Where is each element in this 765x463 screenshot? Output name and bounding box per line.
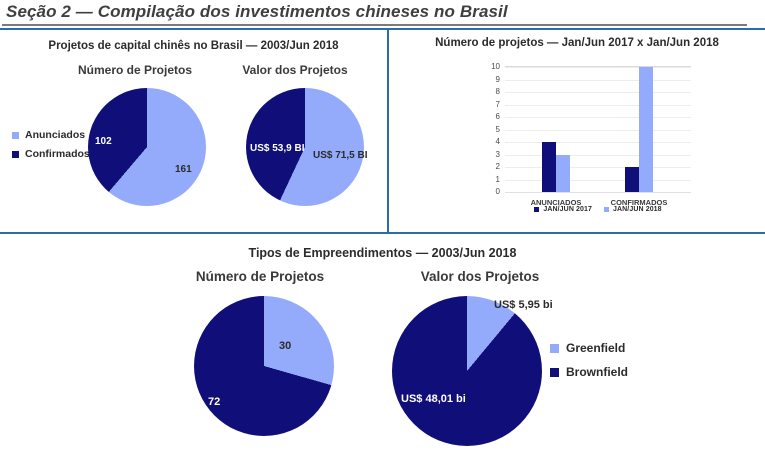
legend-item-jan-jun-2017: JAN/JUN 2017 — [534, 206, 592, 213]
legend-label-confirmados: Confirmados — [25, 148, 90, 160]
ytick-label-3: 3 — [496, 151, 500, 159]
gridline-2: 2 — [505, 167, 691, 168]
chart-subtitle-valor-projetos-1: Valor dos Projetos — [220, 63, 370, 77]
ytick-label-4: 4 — [496, 138, 500, 146]
ytick-label-1: 1 — [496, 176, 500, 184]
gridline-4: 4 — [505, 142, 691, 143]
ytick-label-7: 7 — [496, 101, 500, 109]
ytick-label-5: 5 — [496, 126, 500, 134]
gridline-9: 9 — [505, 80, 691, 81]
pie-slice-label-30: 30 — [279, 340, 291, 352]
legend-greenfield-brownfield: Greenfield Brownfield — [550, 341, 628, 389]
legend-label-jan-jun-2018: JAN/JUN 2018 — [613, 206, 662, 213]
gridline-8: 8 — [505, 92, 691, 93]
legend-swatch-confirmados — [12, 151, 19, 158]
bar-confirmados-2018 — [639, 67, 653, 192]
gridline-5: 5 — [505, 130, 691, 131]
bar-group-anunciados: ANUNCIADOS — [542, 67, 570, 192]
chart-subtitle-numero-projetos-1: Número de Projetos — [60, 63, 210, 77]
ytick-label-8: 8 — [496, 88, 500, 96]
top-right-panel-title: Número de projetos — Jan/Jun 2017 x Jan/… — [389, 37, 765, 49]
pie-slice-label-715: US$ 71,5 BI — [313, 150, 367, 161]
bar-group-confirmados: CONFIRMADOS — [625, 67, 653, 192]
bottom-panel-title: Tipos de Empreendimentos — 2003/Jun 2018 — [0, 246, 765, 260]
legend-item-anunciados: Anunciados — [12, 129, 90, 141]
gridline-3: 3 — [505, 155, 691, 156]
legend-swatch-greenfield — [550, 344, 559, 353]
bar-chart-numero-projetos-2017-2018: 10 9 8 7 6 5 4 3 2 1 0 — [425, 58, 725, 233]
legend-label-anunciados: Anunciados — [25, 129, 85, 141]
panel-vertical-divider — [387, 28, 389, 234]
panel-top-border — [0, 28, 765, 30]
legend-label-brownfield: Brownfield — [566, 365, 628, 379]
legend-swatch-jan-jun-2017 — [534, 207, 539, 212]
bar-chart-plot-area: 10 9 8 7 6 5 4 3 2 1 0 — [505, 66, 691, 192]
pie-chart-numero-projetos-1 — [88, 88, 206, 206]
ytick-label-10: 10 — [491, 63, 500, 71]
ytick-label-6: 6 — [496, 113, 500, 121]
legend-item-jan-jun-2018: JAN/JUN 2018 — [604, 206, 662, 213]
ytick-label-2: 2 — [496, 163, 500, 171]
gridline-0: 0 — [505, 192, 691, 193]
gridline-1: 1 — [505, 180, 691, 181]
bar-anunciados-2018 — [556, 155, 570, 193]
legend-item-brownfield: Brownfield — [550, 365, 628, 379]
pie-chart-numero-projetos-2 — [194, 296, 334, 436]
pie-slice-label-4801: US$ 48,01 bi — [401, 393, 466, 405]
legend-item-greenfield: Greenfield — [550, 341, 628, 355]
gridline-7: 7 — [505, 105, 691, 106]
legend-swatch-anunciados — [12, 132, 19, 139]
page-title: Seção 2 — Compilação dos investimentos c… — [6, 2, 746, 22]
ytick-label-9: 9 — [496, 76, 500, 84]
top-left-panel-title: Projetos de capital chinês no Brasil — 2… — [0, 40, 387, 52]
pie-slice-label-161: 161 — [175, 164, 192, 175]
gridline-6: 6 — [505, 117, 691, 118]
legend-swatch-brownfield — [550, 368, 559, 377]
legend-swatch-jan-jun-2018 — [604, 207, 609, 212]
pie-chart-valor-projetos-2 — [392, 296, 542, 446]
legend-label-greenfield: Greenfield — [566, 341, 625, 355]
pie-slice-label-102: 102 — [95, 136, 112, 147]
bar-chart-legend: JAN/JUN 2017 JAN/JUN 2018 — [505, 206, 691, 213]
legend-item-confirmados: Confirmados — [12, 148, 90, 160]
chart-subtitle-valor-projetos-2: Valor dos Projetos — [385, 269, 575, 284]
pie-slice-label-539: US$ 53,9 BI — [250, 143, 304, 154]
chart-subtitle-numero-projetos-2: Número de Projetos — [165, 269, 355, 284]
gridline-10: 10 — [505, 67, 691, 68]
title-underline — [2, 24, 747, 26]
legend-label-jan-jun-2017: JAN/JUN 2017 — [543, 206, 592, 213]
pie-slice-label-72: 72 — [208, 396, 220, 408]
bar-confirmados-2017 — [625, 167, 639, 192]
pie-slice-label-595: US$ 5,95 bi — [494, 299, 553, 311]
legend-anunciados-confirmados: Anunciados Confirmados — [12, 129, 90, 167]
bar-anunciados-2017 — [542, 142, 556, 192]
ytick-label-0: 0 — [496, 188, 500, 196]
